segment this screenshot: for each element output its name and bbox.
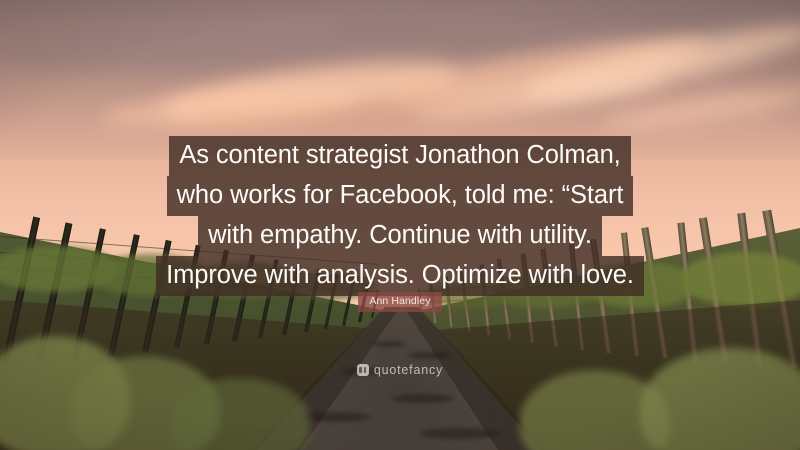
quote-line: who works for Facebook, told me: “Start [0, 176, 800, 216]
quote-poster: As content strategist Jonathon Colman, w… [0, 0, 800, 450]
quote-line: As content strategist Jonathon Colman, [0, 136, 800, 176]
path-puddle [300, 412, 370, 422]
watermark[interactable]: quotefancy [0, 363, 800, 381]
quote-line: Improve with analysis. Optimize with lov… [0, 256, 800, 296]
author-name: Ann Handley [358, 292, 441, 312]
quote-text-block: As content strategist Jonathon Colman, w… [0, 136, 800, 296]
path-puddle [420, 428, 500, 439]
watermark-inner[interactable]: quotefancy [357, 363, 443, 377]
path-puddle [392, 394, 454, 403]
quote-line: with empathy. Continue with utility. [0, 216, 800, 256]
quote-line-text: Improve with analysis. Optimize with lov… [156, 256, 644, 296]
quotefancy-logo-icon [357, 364, 369, 376]
path-puddle [408, 352, 452, 359]
quote-line-text: As content strategist Jonathon Colman, [169, 136, 630, 176]
path-puddle [372, 341, 406, 347]
quote-line-text: with empathy. Continue with utility. [198, 216, 602, 256]
author-attribution: Ann Handley [0, 291, 800, 312]
quote-line-text: who works for Facebook, told me: “Start [167, 176, 634, 216]
watermark-brand-text: quotefancy [374, 363, 443, 377]
